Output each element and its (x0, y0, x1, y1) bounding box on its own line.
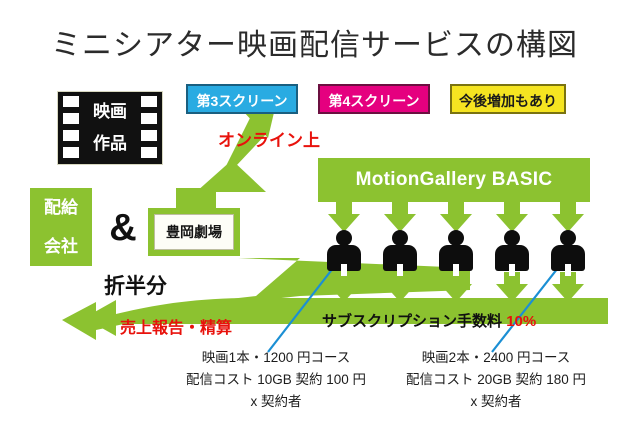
distributor-box: 配給 会社 (30, 188, 92, 266)
distributor-line2: 会社 (30, 227, 92, 266)
person-leg-gap (565, 264, 571, 276)
person-icon (491, 230, 533, 282)
person-icon (547, 230, 589, 282)
film-strip-icon: 映画 作品 (58, 92, 162, 164)
note-left-line1: 映画1本・1200 円コース (168, 347, 384, 369)
note-left-line3: x 契約者 (168, 391, 384, 413)
note-right: 映画2本・2400 円コース 配信コスト 20GB 契約 180 円 x 契約者 (388, 347, 604, 413)
film-label-line2: 作品 (84, 128, 136, 160)
diagram-canvas: ミニシアター映画配信サービスの構図 第3スクリーン 第4スクリーン 今後増加もあ… (0, 0, 629, 444)
person-leg-gap (341, 264, 347, 276)
label-subscription-fee: サブスクリプション手数料 10% (322, 310, 536, 331)
person-head (560, 230, 576, 246)
screen-chip-future[interactable]: 今後増加もあり (450, 84, 566, 114)
note-left: 映画1本・1200 円コース 配信コスト 10GB 契約 100 円 x 契約者 (168, 347, 384, 413)
person-leg-gap (509, 264, 515, 276)
theater-box: 豊岡劇場 (148, 208, 240, 256)
note-left-line2: 配信コスト 10GB 契約 100 円 (168, 369, 384, 391)
ampersand-symbol: & (102, 205, 144, 251)
person-icon (435, 230, 477, 282)
arrows-platform-to-users (328, 202, 584, 232)
note-right-line3: x 契約者 (388, 391, 604, 413)
screen-chip-3[interactable]: 第3スクリーン (186, 84, 298, 114)
person-head (448, 230, 464, 246)
distributor-line1: 配給 (30, 188, 92, 227)
subscription-fee-text: サブスクリプション手数料 (322, 313, 502, 330)
person-head (504, 230, 520, 246)
film-label-line1: 映画 (84, 96, 136, 128)
film-strip-label: 映画 作品 (84, 96, 136, 160)
screen-chip-4[interactable]: 第4スクリーン (318, 84, 430, 114)
note-right-line1: 映画2本・2400 円コース (388, 347, 604, 369)
person-icon (323, 230, 365, 282)
page-title: ミニシアター映画配信サービスの構図 (0, 20, 629, 64)
person-leg-gap (397, 264, 403, 276)
subscription-fee-percent: 10% (506, 313, 536, 330)
theater-label: 豊岡劇場 (154, 214, 234, 250)
person-icon (379, 230, 421, 282)
label-half-share: 折半分 (104, 270, 167, 300)
arrow-theater-to-online (172, 104, 276, 214)
label-sales-report: 売上報告・精算 (120, 314, 232, 338)
platform-banner: MotionGallery BASIC (318, 158, 590, 202)
person-head (392, 230, 408, 246)
person-leg-gap (453, 264, 459, 276)
person-head (336, 230, 352, 246)
label-online: オンライン上 (218, 126, 320, 151)
note-right-line2: 配信コスト 20GB 契約 180 円 (388, 369, 604, 391)
film-perforations-left (63, 96, 79, 160)
film-perforations-right (141, 96, 157, 160)
